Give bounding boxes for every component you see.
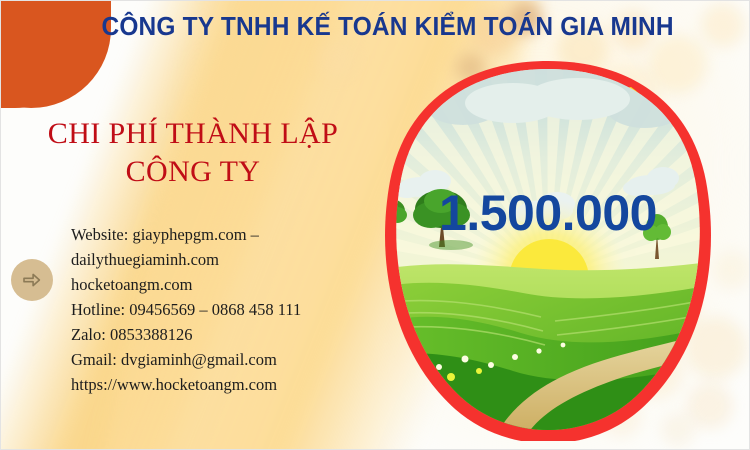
- contact-line: Hotline: 09456569 – 0868 458 111: [71, 297, 381, 322]
- contact-line: Zalo: 0853388126: [71, 322, 381, 347]
- landscape-illustration: [373, 59, 723, 441]
- company-name: CÔNG TY TNHH KẾ TOÁN KIỂM TOÁN GIA MINH: [78, 13, 673, 42]
- price-amount: 1.500.000: [373, 184, 723, 242]
- arrow-right-button[interactable]: [11, 259, 53, 301]
- headline: CHI PHÍ THÀNH LẬP CÔNG TY: [1, 53, 381, 192]
- headline-line-2: CÔNG TY: [35, 153, 351, 191]
- headline-line-1: CHI PHÍ THÀNH LẬP: [48, 117, 338, 150]
- contact-line: Website: giayphepgm.com –: [71, 222, 381, 247]
- illustration-svg: [373, 59, 723, 441]
- promo-banner: CÔNG TY TNHH KẾ TOÁN KIỂM TOÁN GIA MINH …: [0, 0, 750, 450]
- contact-details: Website: giayphepgm.com –dailythuegiamin…: [1, 192, 381, 398]
- contact-line: hocketoangm.com: [71, 272, 381, 297]
- banner-header: CÔNG TY TNHH KẾ TOÁN KIỂM TOÁN GIA MINH: [1, 1, 750, 53]
- left-content-column: CHI PHÍ THÀNH LẬP CÔNG TY Website: giayp…: [1, 53, 381, 450]
- arrow-right-icon: [20, 268, 44, 292]
- contact-line: https://www.hocketoangm.com: [71, 372, 381, 397]
- contact-line: Gmail: dvgiaminh@gmail.com: [71, 347, 381, 372]
- contact-line: dailythuegiaminh.com: [71, 247, 381, 272]
